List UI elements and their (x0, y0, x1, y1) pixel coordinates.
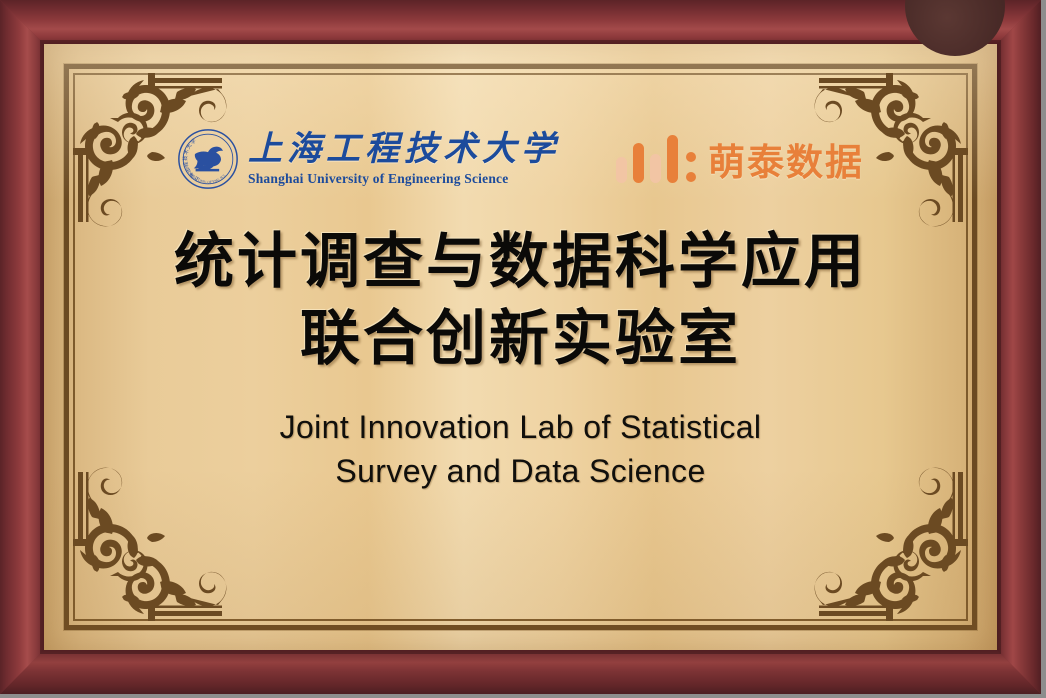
logo-colon-dots (686, 152, 696, 182)
frame-bevel-right (997, 0, 1041, 694)
plaque-stage: 上海工程技术大学 SHANGHAI UNIV. OF ENG. SCI. (0, 0, 1046, 698)
university-logo: 上海工程技术大学 SHANGHAI UNIV. OF ENG. SCI. (177, 128, 560, 190)
logo-bar-1 (616, 157, 627, 183)
logo-bar-4 (667, 135, 678, 183)
title-cn-line-2: 联合创新实验室 (104, 301, 937, 378)
title-cn-line-1: 统计调查与数据科学应用 (104, 224, 937, 301)
logo-dot-top (686, 152, 696, 162)
title-en-line-2: Survey and Data Science (104, 449, 937, 493)
frame-bevel-top (0, 0, 1041, 44)
title-en-line-1: Joint Innovation Lab of Statistical (104, 405, 937, 449)
company-logo: 萌泰数据 (616, 132, 864, 186)
university-wordmark: 上海工程技术大学 Shanghai University of Engineer… (248, 133, 560, 186)
company-name-cn: 萌泰数据 (708, 132, 864, 186)
frame-bevel-bottom (0, 650, 1041, 694)
plaque-title-en: Joint Innovation Lab of Statistical Surv… (104, 405, 937, 493)
plaque-content: 上海工程技术大学 SHANGHAI UNIV. OF ENG. SCI. (104, 100, 937, 493)
university-seal-icon: 上海工程技术大学 SHANGHAI UNIV. OF ENG. SCI. (177, 128, 239, 190)
bottom-gutter (0, 694, 1046, 698)
logo-dot-bottom (686, 172, 696, 182)
logo-row: 上海工程技术大学 SHANGHAI UNIV. OF ENG. SCI. (104, 128, 937, 190)
university-name-en: Shanghai University of Engineering Scien… (248, 172, 560, 186)
university-name-cn: 上海工程技术大学 (248, 133, 560, 167)
logo-bar-3 (650, 154, 661, 183)
bar-chart-mark-icon (616, 135, 696, 183)
right-gutter (1041, 0, 1046, 698)
logo-bar-2 (633, 143, 644, 183)
plaque-plate: 上海工程技术大学 SHANGHAI UNIV. OF ENG. SCI. (44, 44, 997, 650)
frame-bevel-left (0, 0, 44, 694)
plaque-title-cn: 统计调查与数据科学应用 联合创新实验室 (104, 224, 937, 379)
